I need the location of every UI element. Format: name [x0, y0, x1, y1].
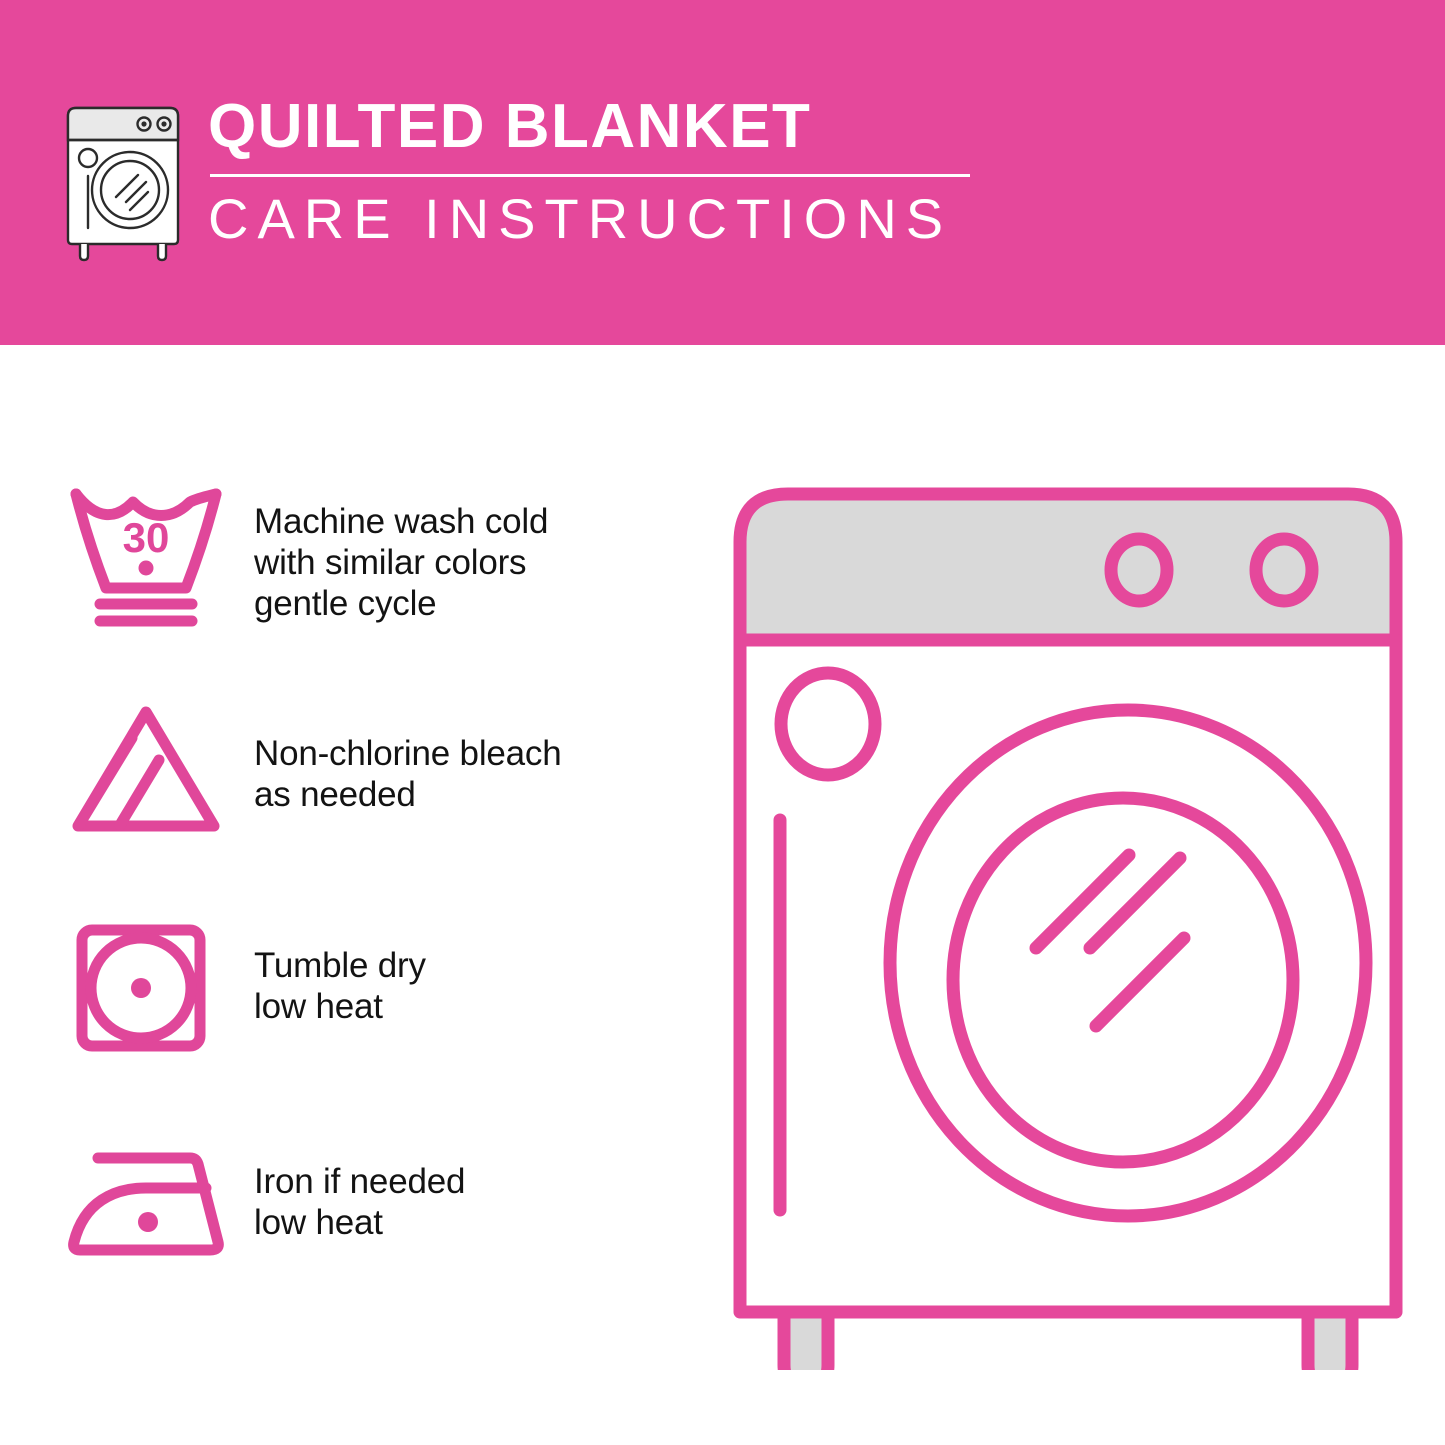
care-instructions-list: 30 Machine wash cold with similar colors… — [62, 480, 682, 1328]
machine-control-panel — [740, 494, 1396, 640]
front-load-washing-machine-illustration — [718, 470, 1418, 1370]
care-text-line: Machine wash cold — [254, 502, 548, 543]
care-item-text: Tumble dry low heat — [254, 904, 426, 1028]
header-title-block: QUILTED BLANKET CARE INSTRUCTIONS — [208, 96, 970, 247]
care-item-iron: Iron if needed low heat — [62, 1116, 682, 1328]
care-text-line: Tumble dry — [254, 946, 426, 987]
care-item-tumble-dry: Tumble dry low heat — [62, 904, 682, 1116]
tumble-dry-low-icon — [62, 904, 232, 1058]
care-item-text: Non-chlorine bleach as needed — [254, 692, 562, 816]
care-item-text: Machine wash cold with similar colors ge… — [254, 480, 548, 625]
care-item-text: Iron if needed low heat — [254, 1116, 465, 1244]
machine-leg-left — [784, 1310, 828, 1370]
iron-low-heat-icon — [62, 1116, 232, 1264]
header-banner: QUILTED BLANKET CARE INSTRUCTIONS — [0, 0, 1445, 345]
care-text-line: Iron if needed — [254, 1162, 465, 1203]
header-content: QUILTED BLANKET CARE INSTRUCTIONS — [58, 96, 970, 262]
care-text-line: low heat — [254, 987, 426, 1028]
page-subtitle: CARE INSTRUCTIONS — [208, 191, 970, 247]
care-text-line: with similar colors — [254, 543, 548, 584]
wash-tub-30-gentle-icon: 30 — [62, 480, 232, 630]
care-text-line: low heat — [254, 1203, 465, 1244]
care-text-line: as needed — [254, 775, 562, 816]
title-divider — [210, 174, 970, 177]
page-title: QUILTED BLANKET — [208, 96, 970, 158]
machine-leg-right — [1308, 1310, 1352, 1370]
care-text-line: Non-chlorine bleach — [254, 734, 562, 775]
washing-machine-icon — [58, 102, 188, 262]
care-item-machine-wash: 30 Machine wash cold with similar colors… — [62, 480, 682, 692]
non-chlorine-bleach-triangle-icon — [62, 692, 232, 838]
care-item-bleach: Non-chlorine bleach as needed — [62, 692, 682, 904]
care-text-line: gentle cycle — [254, 584, 548, 625]
wash-temperature-value: 30 — [123, 514, 170, 561]
